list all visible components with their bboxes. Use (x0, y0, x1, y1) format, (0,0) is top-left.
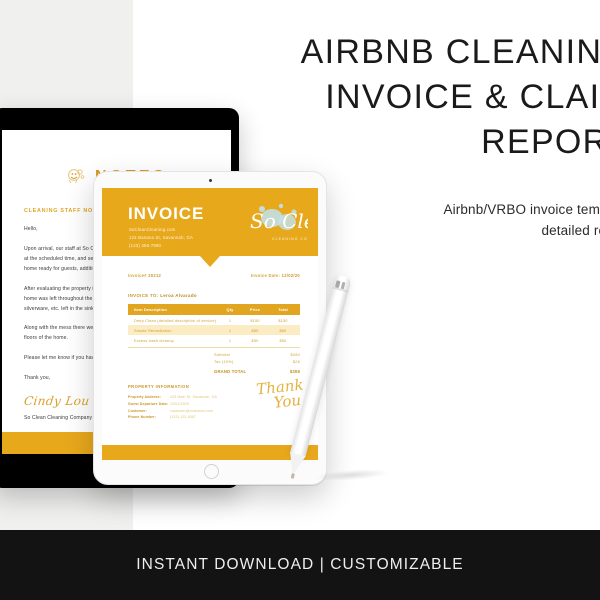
tax-value: $28 (293, 359, 300, 364)
bill-to-label: INVOICE TO: (128, 293, 159, 298)
invoice-date-label: Invoice Date: (251, 273, 280, 278)
property-row: Phone Number: (123) 123-4567 (128, 414, 217, 421)
invoice-date-value: 12/02/20 (282, 273, 300, 278)
tax-label: Tax (10%) (214, 359, 233, 364)
page-subtitle: Airbnb/VRBO invoice template detailed re… (285, 199, 600, 243)
contact-phone: (123) 456-7890 (129, 242, 193, 250)
cell-total: $80 (269, 328, 300, 333)
invoice-bill-to: INVOICE TO: Leroa Alvarado (128, 293, 197, 298)
grand-total-value: $308 (290, 369, 300, 374)
invoice-date-group: Invoice Date: 12/02/20 (251, 273, 300, 278)
subtitle-line-1: Airbnb/VRBO invoice template (443, 202, 600, 217)
title-line-1: AIRBNB CLEANING (301, 33, 600, 71)
cell-description: Smoke Remediation (128, 328, 219, 333)
thank-you-script: Thank You (255, 378, 305, 412)
property-value: (123) 123-4567 (170, 414, 196, 421)
table-row: Smoke Remediation 1 $80 $80 (128, 325, 300, 335)
property-value: customer@customer.com (170, 408, 213, 415)
property-information: PROPERTY INFORMATION Property Address: 1… (128, 384, 217, 421)
camera-icon (209, 179, 212, 182)
title-line-3: REPORT (481, 123, 600, 161)
page-title: AIRBNB CLEANING INVOICE & CLAIM REPORT (285, 30, 600, 165)
invoice-footer-bar (102, 445, 318, 460)
grand-total-label: GRAND TOTAL (214, 369, 246, 374)
cell-price: $150 (241, 318, 269, 323)
cell-qty: 1 (219, 338, 241, 343)
invoice-number-group: Invoice# 20212 (128, 273, 161, 278)
contact-address: 123 Banana St, Savannah, GA (129, 234, 193, 242)
invoice-totals: Subtotal $280 Tax (10%) $28 GRAND TOTAL … (214, 351, 300, 375)
property-information-heading: PROPERTY INFORMATION (128, 384, 217, 389)
property-label: Property Address: (128, 394, 170, 401)
invoice-meta: Invoice# 20212 Invoice Date: 12/02/20 (128, 273, 300, 278)
pencil-tip (290, 473, 294, 479)
col-price: Price (241, 307, 269, 312)
property-value: 123 Main St, Savannah, GA (170, 394, 217, 401)
property-label: Guest Departure Date: (128, 401, 170, 408)
table-header-row: Item Description Qty Price Total (128, 304, 300, 315)
col-item-description: Item Description (128, 307, 219, 312)
property-label: Customer: (128, 408, 170, 415)
banner-text: INSTANT DOWNLOAD | CUSTOMIZABLE (136, 556, 464, 574)
home-button[interactable] (204, 464, 219, 479)
contact-website: SoCleanCleaning.com (129, 226, 193, 234)
invoice-line-items-table: Item Description Qty Price Total Deep Cl… (128, 304, 300, 348)
subtitle-line-2: detailed report (541, 223, 600, 238)
property-label: Phone Number: (128, 414, 170, 421)
header-notch (200, 256, 220, 267)
invoice-number-value: 20212 (148, 273, 161, 278)
thank-you-line-2: You (269, 393, 306, 411)
property-row: Customer: customer@customer.com (128, 408, 217, 415)
property-row: Property Address: 123 Main St, Savannah,… (128, 394, 217, 401)
product-mockup-canvas: NOTES CLEANING STAFF NOTES: Hello, Upon … (0, 0, 600, 600)
subtotal-line: Subtotal $280 (214, 351, 300, 358)
invoice-number-label: Invoice# (128, 273, 147, 278)
cell-price: $50 (241, 338, 269, 343)
table-row: Deep Clean (detailed description of serv… (128, 315, 300, 325)
property-row: Guest Departure Date: 12/01/2020 (128, 401, 217, 408)
cell-description: Deep Clean (detailed description of serv… (128, 318, 219, 323)
col-total: Total (269, 307, 300, 312)
property-value: 12/01/2020 (170, 401, 189, 408)
cell-price: $80 (241, 328, 269, 333)
title-line-2: INVOICE & CLAIM (325, 78, 600, 116)
subtotal-label: Subtotal (214, 352, 230, 357)
cell-description: Excess trash cleanup (128, 338, 219, 343)
bill-to-name: Leroa Alvarado (160, 293, 197, 298)
invoice-contact-block: SoCleanCleaning.com 123 Banana St, Savan… (129, 226, 193, 249)
subtotal-value: $280 (291, 352, 300, 357)
col-qty: Qty (219, 307, 241, 312)
cell-total: $50 (269, 338, 300, 343)
table-row: Excess trash cleanup 1 $50 $50 (128, 335, 300, 345)
hero-text-block: AIRBNB CLEANING INVOICE & CLAIM REPORT A… (285, 30, 600, 242)
cell-total: $150 (269, 318, 300, 323)
invoice-title: INVOICE (128, 204, 204, 224)
table-divider (128, 347, 300, 348)
cell-qty: 1 (219, 318, 241, 323)
cleaning-bubble-logo-icon (66, 166, 88, 188)
grand-total-line: GRAND TOTAL $308 (214, 368, 300, 375)
bottom-banner: INSTANT DOWNLOAD | CUSTOMIZABLE (0, 530, 600, 600)
cell-qty: 1 (219, 328, 241, 333)
tax-line: Tax (10%) $28 (214, 358, 300, 365)
